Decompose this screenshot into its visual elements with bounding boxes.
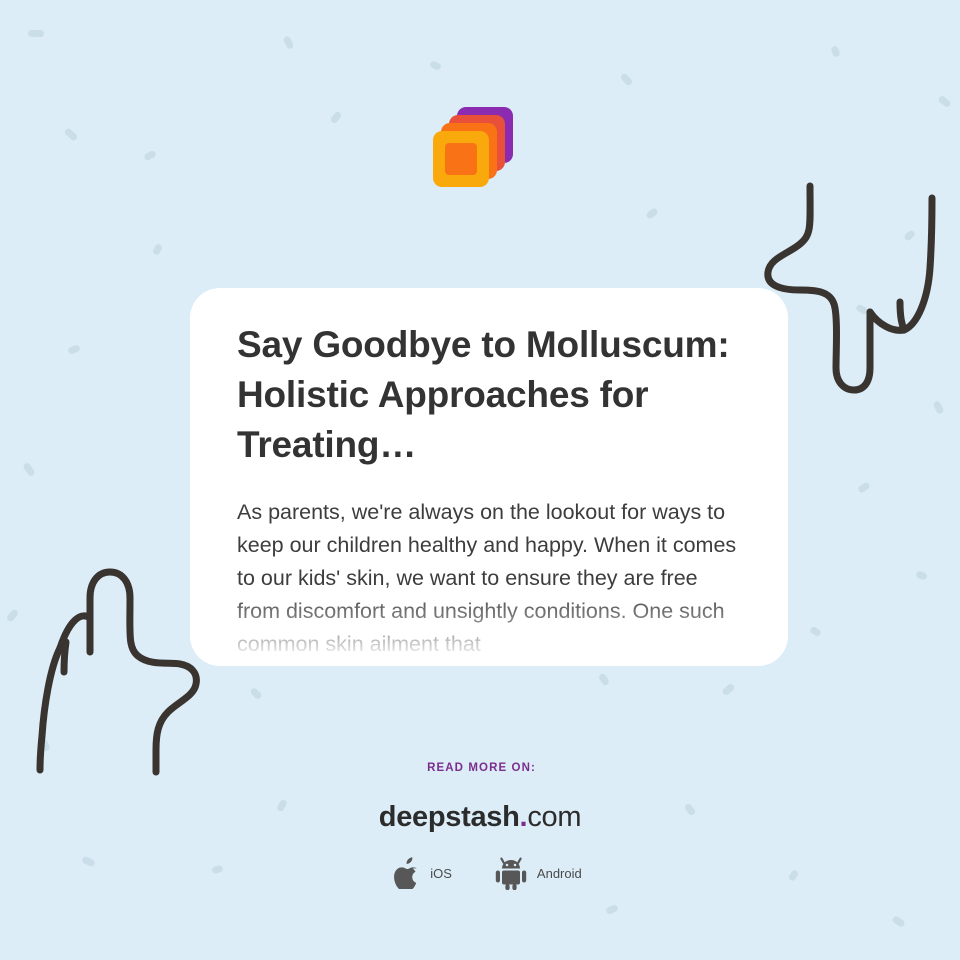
apple-icon [394,857,421,889]
app-store-badges: iOS [0,856,960,890]
confetti-dash [67,344,81,355]
ios-store-badge[interactable]: iOS [394,857,452,889]
confetti-dash [857,481,871,494]
read-more-on-label: READ MORE ON: [0,762,960,774]
confetti-dash [830,45,840,58]
deepstash-wordmark[interactable]: deepstash.com [0,801,960,834]
confetti-dash [620,72,634,86]
android-icon [494,856,528,890]
android-store-label: Android [537,866,582,881]
poster-canvas: Say Goodbye to Molluscum: Holistic Appro… [0,0,960,960]
confetti-dash [143,150,157,162]
confetti-dash [809,626,822,638]
confetti-dash [598,673,610,687]
article-card-content: Say Goodbye to Molluscum: Holistic Appro… [190,288,788,661]
confetti-dash [63,127,78,142]
confetti-dash [903,229,916,242]
confetti-dash [855,303,869,315]
confetti-dash [330,111,343,125]
confetti-dash [645,207,659,220]
hand-pointing-up-illustration [20,556,215,786]
confetti-dash [283,35,295,50]
footer: READ MORE ON: deepstash.com iOS [0,762,960,890]
confetti-dash [249,687,262,700]
confetti-dash [152,243,163,256]
confetti-dash [6,608,20,622]
wordmark-tld: com [527,801,581,833]
confetti-dash [28,30,44,38]
confetti-dash [932,400,944,415]
deepstash-logo [430,104,516,196]
confetti-dash [605,904,619,915]
ios-store-label: iOS [430,866,452,881]
confetti-dash [721,683,735,697]
article-title: Say Goodbye to Molluscum: Holistic Appro… [237,320,742,470]
confetti-dash [429,60,442,71]
confetti-dash [891,915,906,928]
confetti-dash [915,570,928,580]
confetti-dash [22,462,36,478]
confetti-dash [937,95,952,109]
confetti-dash [40,739,51,752]
article-excerpt: As parents, we're always on the lookout … [237,496,742,661]
article-card[interactable]: Say Goodbye to Molluscum: Holistic Appro… [190,288,788,666]
android-store-badge[interactable]: Android [494,856,582,890]
wordmark-name: deepstash [379,801,520,833]
